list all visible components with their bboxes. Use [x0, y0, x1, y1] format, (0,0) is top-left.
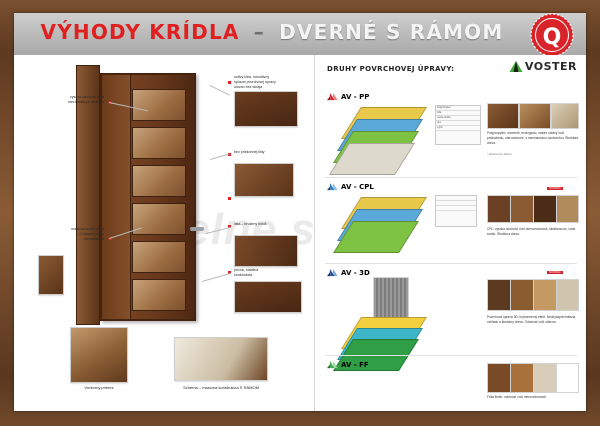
divider [325, 263, 577, 264]
finish-swatch [510, 195, 534, 223]
novelty-badge: NOVINKA [547, 271, 563, 274]
av-mark-icon [327, 269, 338, 277]
leader-dot [228, 81, 231, 84]
finish-swatch [533, 279, 557, 311]
section-key-av-ff: AV - FF [327, 361, 369, 369]
title-dash: – [248, 20, 271, 44]
door-glass-pane [132, 165, 186, 197]
title-part-2: DVERNÉ S RÁMOM [279, 20, 503, 44]
door-stile [102, 75, 131, 319]
feature-label-stable-construction: pevná, stabilná konštrukcia [234, 268, 314, 278]
finish-swatch [487, 363, 511, 393]
detail-photo-strip [234, 235, 298, 267]
feature-label-solid-construction: masívna konštrukcia – 3 čapové pánty dre… [18, 227, 104, 243]
section-key-av-pp: AV - PP [327, 93, 369, 101]
finish-swatch [556, 195, 579, 223]
table-row [436, 206, 476, 211]
door-handle-icon [190, 227, 204, 231]
divider [325, 355, 577, 356]
voster-logo: VOSTER [509, 60, 577, 73]
right-panel: DRUHY POVRCHOVEJ ÚPRAVY: VOSTER [314, 55, 586, 411]
finish-swatch [551, 103, 579, 129]
layer-stack-cpl [337, 197, 427, 251]
finish-swatch [519, 103, 551, 129]
poster-inner: VÝHODY KRÍDLA – DVERNÉ S RÁMOM Q kupelne… [14, 13, 586, 411]
poster-root: VÝHODY KRÍDLA – DVERNÉ S RÁMOM Q kupelne… [0, 0, 600, 426]
section-key-label: AV - FF [341, 361, 369, 369]
section-av-pp: AV - PP Polypropylén fólia nosná doska r… [315, 93, 586, 175]
finish-swatch [556, 363, 579, 393]
svg-text:Q: Q [543, 25, 562, 50]
layer-stack-pp [337, 107, 427, 165]
door-glass-pane [132, 127, 186, 159]
voster-mark-icon [509, 61, 523, 73]
av-mark-icon [327, 361, 338, 369]
detail-photo-construction [234, 281, 302, 313]
voster-wordmark: VOSTER [525, 60, 577, 73]
finish-swatch [487, 103, 519, 129]
section-av-ff: AV - FF Fólia finish: odolnosť voči oter… [315, 361, 586, 409]
poster-body: kupelne.sk [14, 55, 586, 411]
door-glass-column [132, 83, 184, 311]
finish-swatch [533, 363, 557, 393]
feature-label-aluminium-strip: lišta – brúsený hliník [234, 222, 314, 227]
cross-section-photo [70, 327, 128, 383]
av-mark-icon [327, 183, 338, 191]
poster-header: VÝHODY KRÍDLA – DVERNÉ S RÁMOM Q [14, 13, 586, 55]
detail-photo-edge [234, 163, 294, 197]
table-row: výplň [436, 126, 480, 131]
leader-line [210, 85, 230, 96]
divider [325, 177, 577, 178]
page-title: VÝHODY KRÍDLA – DVERNÉ S RÁMOM [14, 20, 530, 44]
finish-swatch [487, 279, 511, 311]
leader-line [202, 273, 231, 282]
finish-swatch [533, 195, 557, 223]
detail-photo-hinge [38, 255, 64, 295]
door-glass-pane [132, 241, 186, 273]
finish-swatch [510, 363, 534, 393]
layer-legend-table: Polypropylén fólia nosná doska rám výplň [435, 105, 481, 145]
feature-label-soft-foil: softvý fólia, inovatívny spôsob povrchov… [234, 75, 314, 91]
section-key-label: AV - PP [341, 93, 369, 101]
novelty-badge: NOVINKA [547, 187, 563, 190]
leader-dot [228, 197, 231, 200]
feature-label-impact-resistance: vysoká odolnosť proti mechanickým otraso… [18, 95, 104, 105]
section-av-cpl: AV - CPL NOVINKA [315, 183, 586, 261]
section-note-av-pp: * farebné tóny dekoru [487, 153, 579, 156]
finish-swatch [556, 279, 579, 311]
section-description-av-ff: Fólia finish: odolnosť voči oteruvzdorno… [487, 395, 579, 400]
finish-swatch [487, 195, 511, 223]
frame-scheme-photo [174, 337, 268, 381]
section-key-label: AV - CPL [341, 183, 374, 191]
section-key-av-cpl: AV - CPL [327, 183, 374, 191]
leader-line [206, 227, 231, 234]
feature-label-no-strip: bez priekonnej lišty [234, 150, 314, 155]
door-glass-pane [132, 279, 186, 311]
layer-legend-table [435, 195, 477, 227]
finish-swatch [510, 279, 534, 311]
caption-frame-scheme: Schéma – masívna konštrukcia S RÁMOM [156, 385, 286, 390]
av-mark-icon [327, 93, 338, 101]
door-glass-pane [132, 203, 186, 235]
section-description-av-3d: Povrchová úprava 3D: trojrozmerný efekt.… [487, 315, 579, 325]
section-description-av-pp: Polypropylén: otvorené, ecologickú, natu… [487, 131, 579, 145]
surface-finish-heading: DRUHY POVRCHOVEJ ÚPRAVY: [327, 65, 454, 73]
title-part-1: VÝHODY KRÍDLA [41, 20, 240, 44]
section-key-av-3d: AV - 3D [327, 269, 370, 277]
texture-sample-3d [373, 277, 409, 319]
section-av-3d: AV - 3D NOVINKA Povrchová úprava 3D: tro… [315, 269, 586, 361]
leader-line [210, 153, 230, 159]
door-glass-pane [132, 89, 186, 121]
caption-cross-section: Vnútorný prierez [54, 385, 144, 390]
left-panel: vysoká odolnosť proti mechanickým otraso… [14, 55, 314, 411]
section-key-label: AV - 3D [341, 269, 370, 277]
section-description-av-cpl: CPL: vysoká odolnosť voči oteruvzdornost… [487, 227, 579, 237]
detail-photo-profile [234, 91, 298, 127]
